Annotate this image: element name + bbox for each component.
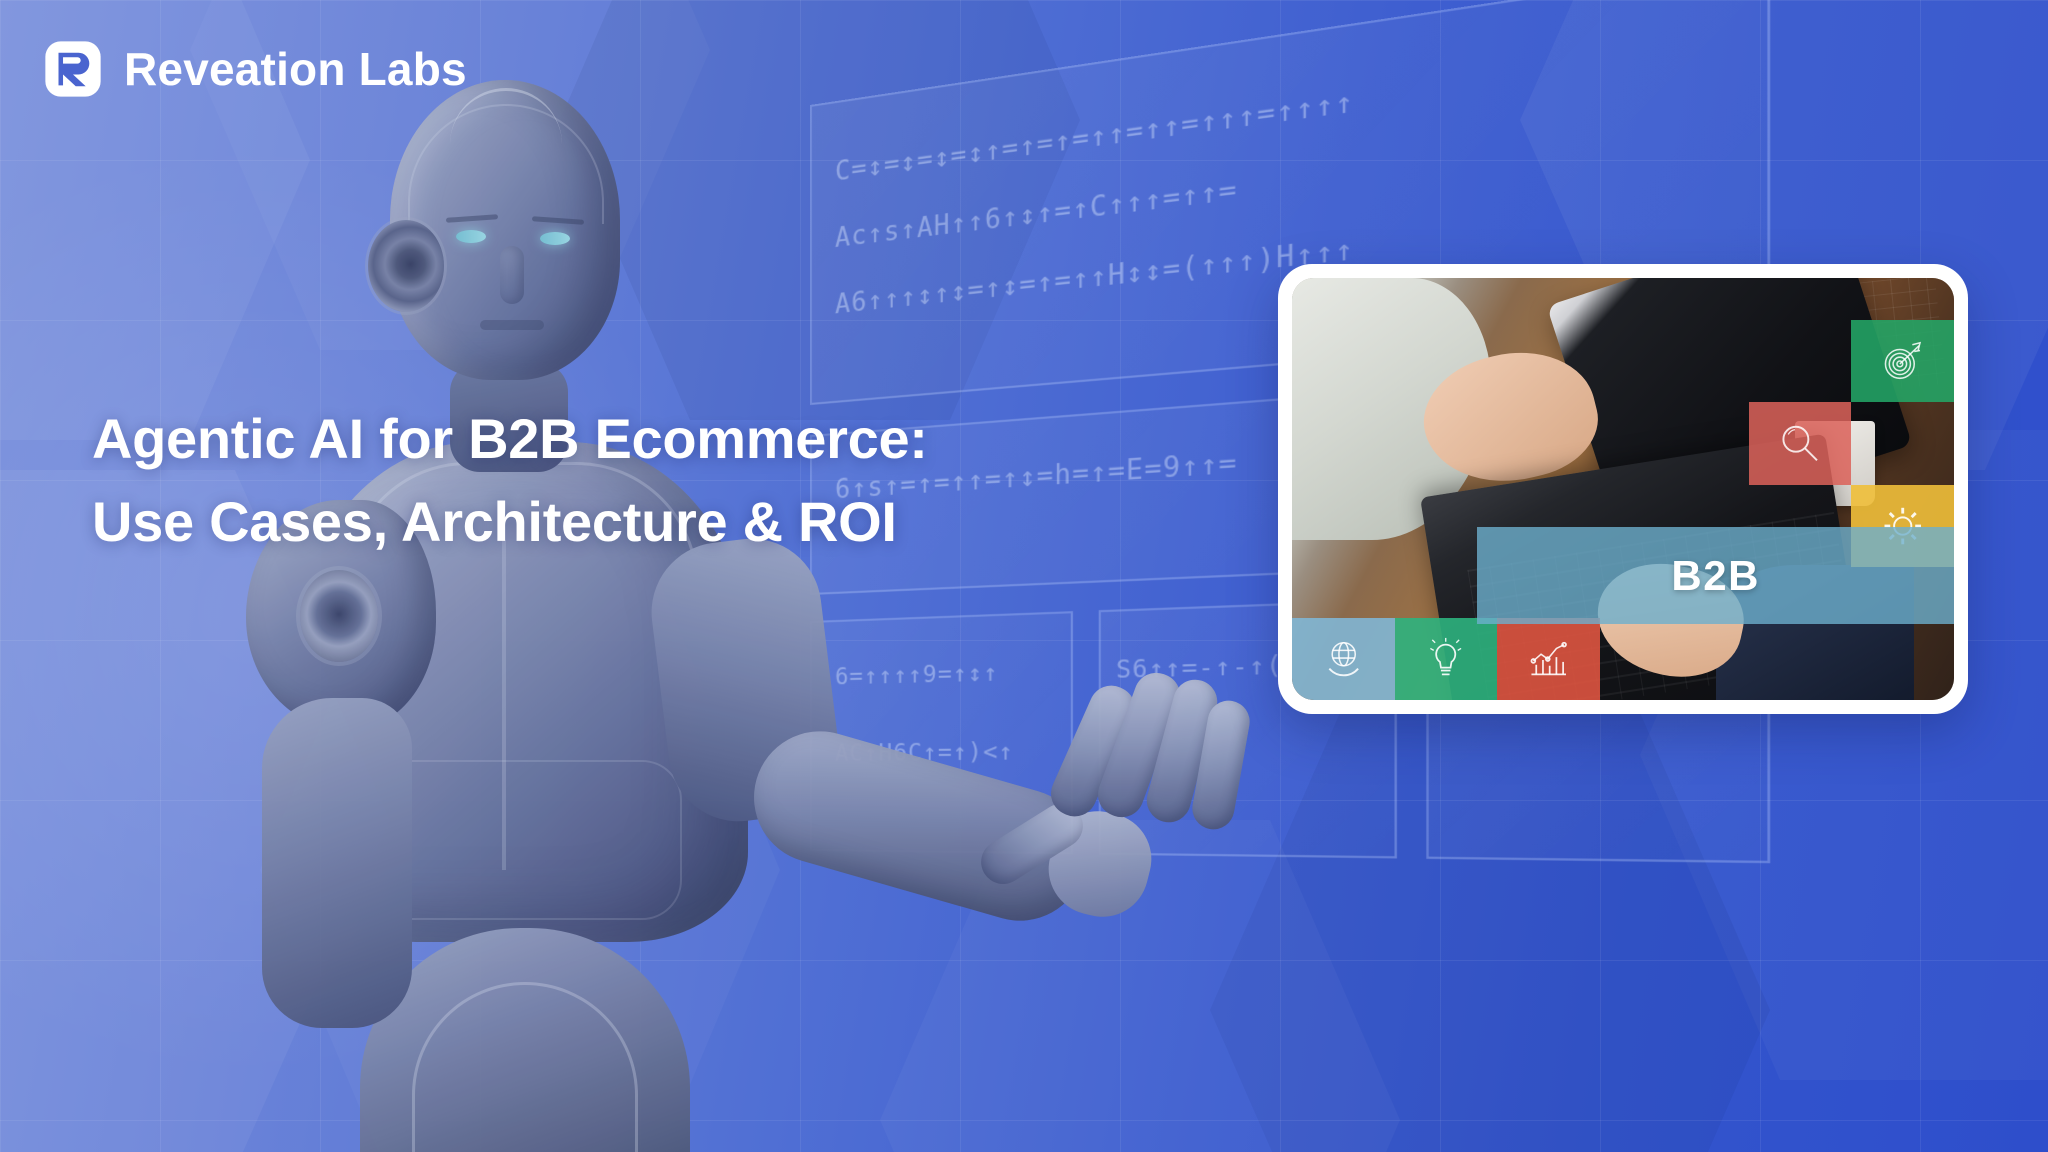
blog-hero-banner: C=↕=↕=↕=↕↑=↑=↑=↑↑=↑↑=↑↑↑=↑↑↑↑ Ac↑s↑AH↑↑6… xyxy=(0,0,2048,1152)
target-icon xyxy=(1851,320,1954,402)
holo-code-line: AC↑H6C↑=↑)<↑ xyxy=(835,739,1014,767)
robot-illustration xyxy=(150,70,1130,1152)
holo-code-line: A6↑↑↑↕↑↕=↑↕=↑=↑↑H↕↕=(↑↑↑)H↑↑↑ xyxy=(835,234,1355,321)
reveation-r-mark-icon xyxy=(44,40,102,98)
growth-icon xyxy=(1497,618,1600,700)
featured-thumbnail-card[interactable]: B2B xyxy=(1278,264,1968,714)
search-icon xyxy=(1749,402,1852,484)
thumbnail-image: B2B xyxy=(1292,278,1954,700)
globe-icon xyxy=(1292,618,1395,700)
brand-name: Reveation Labs xyxy=(124,46,467,92)
headline-line-1: Agentic AI for B2B Ecommerce: xyxy=(92,398,928,481)
holo-code-line: Ac↑s↑AH↑↑6↑↕↑=↑C↑↑↑=↑↑= xyxy=(835,174,1238,254)
headline-line-2: Use Cases, Architecture & ROI xyxy=(92,481,928,564)
page-title: Agentic AI for B2B Ecommerce: Use Cases,… xyxy=(92,398,928,564)
b2b-label-band: B2B xyxy=(1477,527,1954,624)
idea-icon xyxy=(1395,618,1498,700)
brand-logo[interactable]: Reveation Labs xyxy=(44,40,467,98)
b2b-label: B2B xyxy=(1671,552,1760,600)
left-glow xyxy=(0,120,740,1100)
holo-code-line: C=↕=↕=↕=↕↑=↑=↑=↑↑=↑↑=↑↑↑=↑↑↑↑ xyxy=(835,86,1355,188)
holo-code-line: 6=↑↑↑↑9=↑↕↑ xyxy=(835,660,999,691)
